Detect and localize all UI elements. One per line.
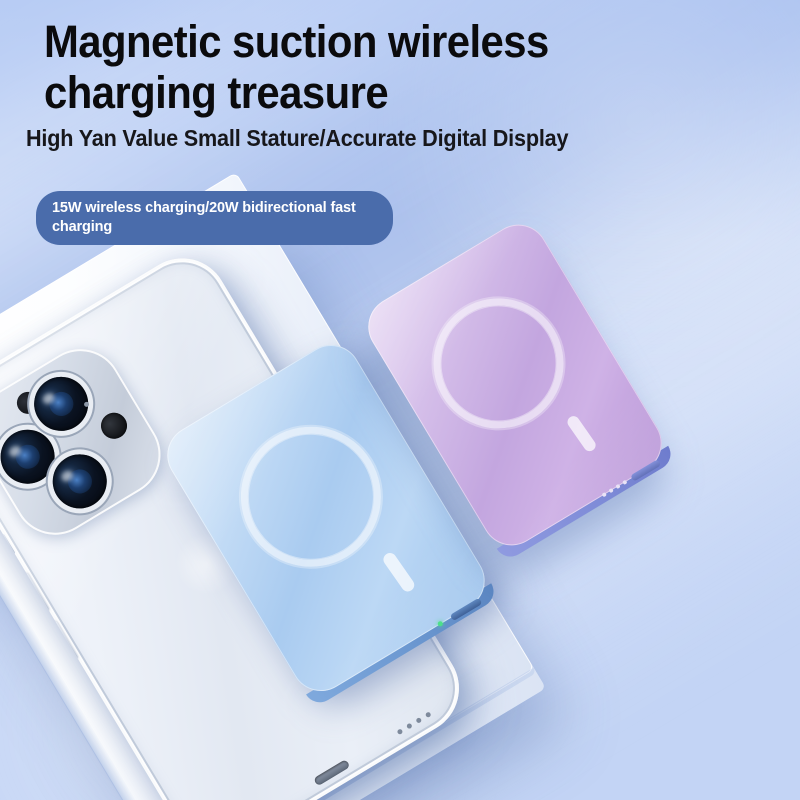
feature-badge: 15W wireless charging/20W bidirectional …	[36, 191, 393, 245]
page-title: Magnetic suction wireless charging treas…	[44, 16, 639, 118]
page-subtitle: High Yan Value Small Stature/Accurate Di…	[26, 124, 684, 152]
product-banner: Magnetic suction wireless charging treas…	[0, 0, 800, 800]
camera-flash-icon	[96, 408, 132, 444]
product-scene	[0, 210, 800, 800]
